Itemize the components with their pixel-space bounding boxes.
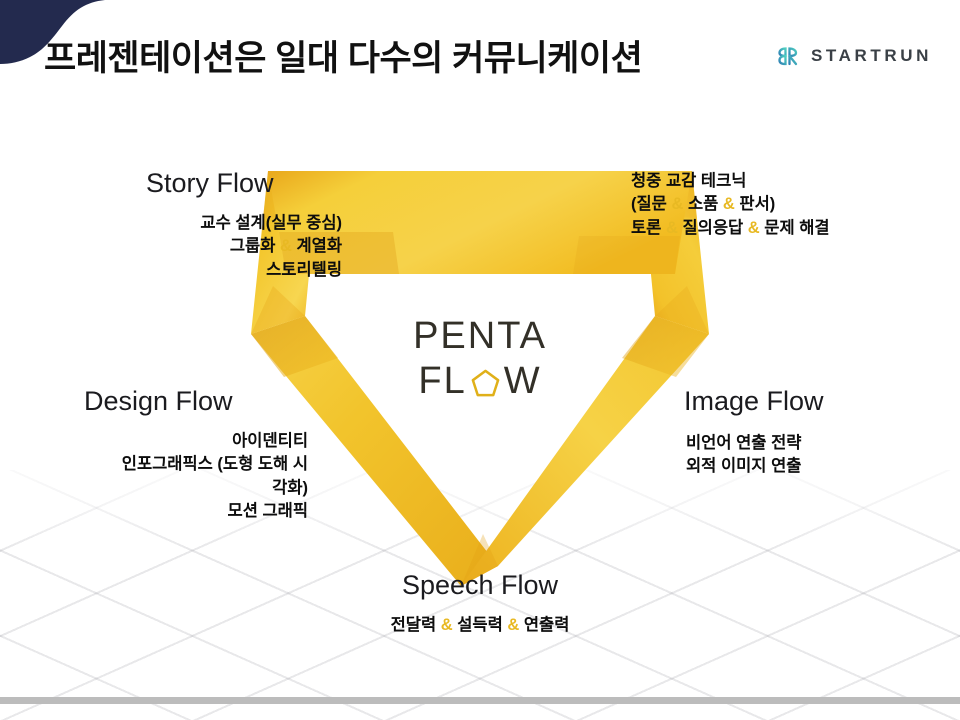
ampersand-separator: &	[671, 195, 683, 213]
flow-body-speech: 전달력 & 설득력 & 연출력	[0, 614, 960, 637]
flow-body-line: 외적 이미지 연출	[686, 455, 916, 478]
flow-body-line: 그룹화 & 계열화	[128, 235, 342, 258]
flow-body-text: 외적 이미지 연출	[686, 457, 801, 475]
flow-body-text: 판서)	[735, 195, 775, 213]
logo-wordmark: STARTRUN	[811, 46, 932, 66]
ampersand-separator: &	[280, 237, 292, 255]
flow-body-text: 그룹화	[230, 237, 280, 255]
flow-body-line: 모션 그래픽	[118, 500, 308, 523]
flow-body-text: 스토리텔링	[266, 261, 342, 279]
flow-body-text: (질문	[631, 195, 671, 213]
flow-body-text: 비언어 연출 전략	[686, 434, 801, 452]
flow-body-line: (질문 & 소품 & 판서)	[631, 193, 931, 216]
bottom-divider-bar	[0, 697, 960, 704]
flow-heading-story: Story Flow	[146, 168, 274, 199]
flow-body-line: 전달력 & 설득력 & 연출력	[0, 614, 960, 637]
ampersand-separator: &	[441, 616, 453, 634]
flow-body-line: 인포그래픽스 (도형 도해 시각화)	[118, 453, 308, 500]
flow-heading-image: Image Flow	[684, 386, 824, 417]
flow-body-text: 연출력	[519, 616, 569, 634]
flow-body-text: 교수 설계(실무 중심)	[200, 214, 342, 232]
ampersand-separator: &	[748, 219, 760, 237]
page-title: 프레젠테이션은 일대 다수의 커뮤니케이션	[44, 30, 642, 81]
ampersand-separator: &	[666, 219, 678, 237]
flow-heading-speech: Speech Flow	[0, 570, 960, 601]
flow-body-technique: 청중 교감 테크닉(질문 & 소품 & 판서)토론 & 질의응답 & 문제 해결	[631, 170, 931, 240]
flow-body-line: 스토리텔링	[128, 259, 342, 282]
flow-body-image: 비언어 연출 전략외적 이미지 연출	[686, 432, 916, 479]
brand-logo: STARTRUN	[775, 43, 932, 69]
flow-body-text: 모션 그래픽	[228, 502, 308, 520]
ampersand-separator: &	[507, 616, 519, 634]
flow-body-story: 교수 설계(실무 중심)그룹화 & 계열화스토리텔링	[128, 212, 342, 282]
flow-body-text: 소품	[683, 195, 723, 213]
flow-body-text: 계열화	[292, 237, 342, 255]
flow-body-line: 비언어 연출 전략	[686, 432, 916, 455]
pentagon-band-lower-right	[461, 316, 709, 586]
flow-body-text: 토론	[631, 219, 666, 237]
flow-body-line: 토론 & 질의응답 & 문제 해결	[631, 217, 931, 240]
flow-body-text: 청중 교감 테크닉	[631, 172, 746, 190]
flow-heading-design: Design Flow	[84, 386, 233, 417]
slide-canvas: 프레젠테이션은 일대 다수의 커뮤니케이션 STARTRUN	[0, 0, 960, 720]
flow-body-text: 아이덴티티	[232, 432, 308, 450]
flow-body-text: 설득력	[453, 616, 508, 634]
flow-body-design: 아이덴티티인포그래픽스 (도형 도해 시각화)모션 그래픽	[118, 430, 308, 524]
flow-body-line: 청중 교감 테크닉	[631, 170, 931, 193]
ampersand-separator: &	[723, 195, 735, 213]
flow-body-line: 교수 설계(실무 중심)	[128, 212, 342, 235]
flow-body-text: 전달력	[391, 616, 441, 634]
flow-body-text: 질의응답	[678, 219, 748, 237]
flow-body-line: 아이덴티티	[118, 430, 308, 453]
flow-body-text: 인포그래픽스 (도형 도해 시각화)	[122, 455, 308, 496]
startrun-logo-mark-icon	[775, 43, 801, 69]
flow-body-text: 문제 해결	[760, 219, 830, 237]
